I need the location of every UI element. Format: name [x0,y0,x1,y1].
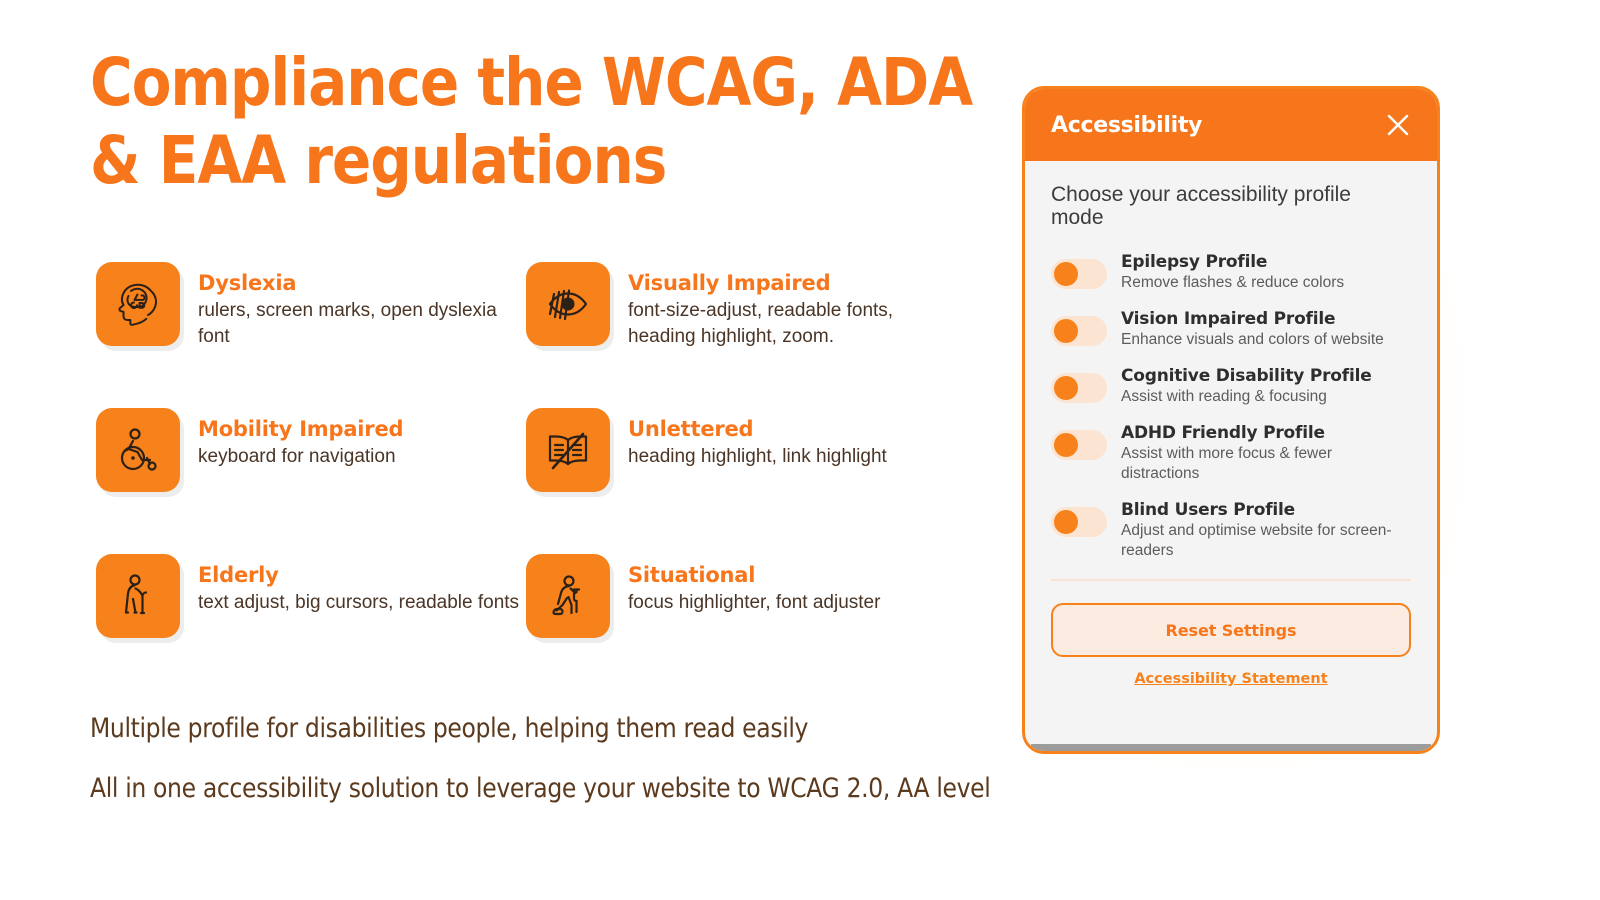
crossed-out-book-icon [526,408,610,492]
profile-desc: Assist with reading & focusing [1121,387,1372,407]
feature-item-elderly: Elderly text adjust, big cursors, readab… [96,554,526,700]
accessibility-statement-link[interactable]: Accessibility Statement [1051,671,1411,687]
feature-title: Dyslexia [198,270,526,296]
toggle-adhd-friendly-profile[interactable] [1051,430,1107,460]
person-crutch-icon [526,554,610,638]
feature-text: Elderly text adjust, big cursors, readab… [198,554,519,616]
profile-desc: Enhance visuals and colors of website [1121,330,1384,350]
widget-body: Choose your accessibility profile mode E… [1025,161,1437,751]
profile-name: Epilepsy Profile [1121,251,1344,273]
headline-block: Compliance the WCAG, ADA & EAA regulatio… [90,44,970,200]
wheelchair-icon [96,408,180,492]
feature-item-situational: Situational focus highlighter, font adju… [526,554,946,700]
toggle-knob [1054,433,1078,457]
feature-item-visually-impaired: Visually Impaired font-size-adjust, read… [526,262,946,408]
profile-text: Blind Users Profile Adjust and optimise … [1121,499,1406,561]
profile-row-cognitive-disability: Cognitive Disability Profile Assist with… [1051,365,1411,407]
feature-desc: text adjust, big cursors, readable fonts [198,590,519,616]
profile-row-blind-users: Blind Users Profile Adjust and optimise … [1051,499,1411,561]
page-title-line-2: & EAA regulations [90,122,864,200]
profile-name: ADHD Friendly Profile [1121,422,1406,444]
feature-title: Unlettered [628,416,887,442]
feature-text: Unlettered heading highlight, link highl… [628,408,887,470]
feature-title: Situational [628,562,880,588]
toggle-cognitive-disability-profile[interactable] [1051,373,1107,403]
tagline-block: Multiple profile for disabilities people… [90,712,1090,832]
profile-desc: Remove flashes & reduce colors [1121,273,1344,293]
tagline-1: Multiple profile for disabilities people… [90,712,960,746]
widget-header: Accessibility [1025,89,1437,161]
feature-title: Visually Impaired [628,270,946,296]
profile-row-adhd-friendly: ADHD Friendly Profile Assist with more f… [1051,422,1411,484]
feature-grid: Dyslexia rulers, screen marks, open dysl… [96,262,976,700]
feature-text: Mobility Impaired keyboard for navigatio… [198,408,403,470]
toggle-knob [1054,376,1078,400]
slide-root: Compliance the WCAG, ADA & EAA regulatio… [0,0,1600,900]
profile-desc: Assist with more focus & fewer distracti… [1121,444,1406,484]
elderly-person-cane-icon [96,554,180,638]
feature-item-mobility-impaired: Mobility Impaired keyboard for navigatio… [96,408,526,554]
accessibility-widget-panel: Accessibility Choose your accessibility … [1022,86,1440,754]
feature-desc: focus highlighter, font adjuster [628,590,880,616]
toggle-blind-users-profile[interactable] [1051,507,1107,537]
profile-text: ADHD Friendly Profile Assist with more f… [1121,422,1406,484]
feature-item-dyslexia: Dyslexia rulers, screen marks, open dysl… [96,262,526,408]
profile-name: Blind Users Profile [1121,499,1406,521]
feature-title: Mobility Impaired [198,416,403,442]
feature-desc: keyboard for navigation [198,444,403,470]
page-title-line-1: Compliance the WCAG, ADA [90,44,864,122]
feature-title: Elderly [198,562,519,588]
toggle-knob [1054,510,1078,534]
widget-divider [1051,579,1411,581]
feature-item-unlettered: Unlettered heading highlight, link highl… [526,408,946,554]
feature-desc: heading highlight, link highlight [628,444,887,470]
profile-text: Epilepsy Profile Remove flashes & reduce… [1121,251,1344,293]
feature-desc: font-size-adjust, readable fonts, headin… [628,298,946,350]
widget-subtitle: Choose your accessibility profile mode [1051,183,1401,229]
feature-text: Visually Impaired font-size-adjust, read… [628,262,946,350]
profile-row-vision-impaired: Vision Impaired Profile Enhance visuals … [1051,308,1411,350]
toggle-knob [1054,319,1078,343]
head-brain-icon [96,262,180,346]
feature-text: Situational focus highlighter, font adju… [628,554,880,616]
profile-text: Cognitive Disability Profile Assist with… [1121,365,1372,407]
feature-desc: rulers, screen marks, open dyslexia font [198,298,526,350]
feature-text: Dyslexia rulers, screen marks, open dysl… [198,262,526,350]
profile-name: Vision Impaired Profile [1121,308,1384,330]
blurred-eye-icon [526,262,610,346]
profile-text: Vision Impaired Profile Enhance visuals … [1121,308,1384,350]
tagline-2: All in one accessibility solution to lev… [90,772,960,806]
widget-title: Accessibility [1051,113,1202,138]
toggle-epilepsy-profile[interactable] [1051,259,1107,289]
close-x-icon[interactable] [1381,108,1415,142]
profile-name: Cognitive Disability Profile [1121,365,1372,387]
reset-settings-button[interactable]: Reset Settings [1051,603,1411,657]
profile-desc: Adjust and optimise website for screen-r… [1121,521,1406,561]
toggle-vision-impaired-profile[interactable] [1051,316,1107,346]
toggle-knob [1054,262,1078,286]
profile-row-epilepsy: Epilepsy Profile Remove flashes & reduce… [1051,251,1411,293]
